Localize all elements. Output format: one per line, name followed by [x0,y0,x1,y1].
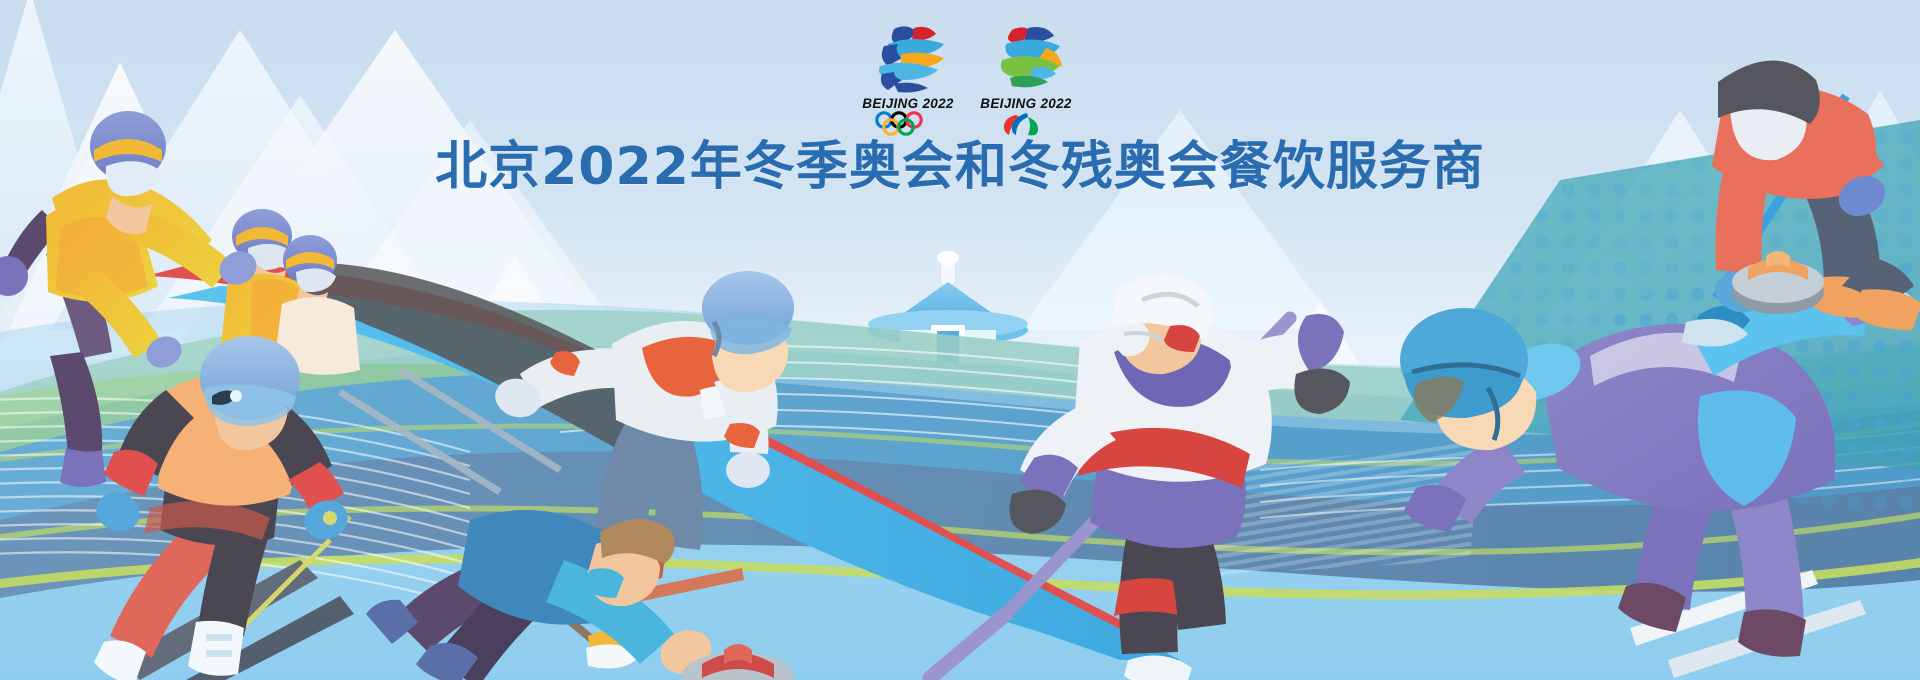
speed-skater-large [1400,270,1914,678]
emblem-group: BEIJING 2022 B [858,22,1078,132]
paralympic-wordmark: BEIJING 2022 [976,97,1076,111]
page-title: 北京2022年冬季奥会和冬残奥会餐饮服务商 [0,124,1920,199]
beijing-2022-paralympic-emblem: BEIJING 2022 [976,22,1076,130]
beijing-2022-olympic-emblem: BEIJING 2022 [858,22,958,130]
olympic-wordmark: BEIJING 2022 [858,97,958,111]
olympic-emblem-mark [858,22,958,96]
paralympic-emblem-mark [976,22,1076,96]
curler-sweeper [1682,60,1920,346]
ice-hockey-player [930,274,1350,680]
beijing-2022-catering-banner: BEIJING 2022 B [0,0,1920,680]
